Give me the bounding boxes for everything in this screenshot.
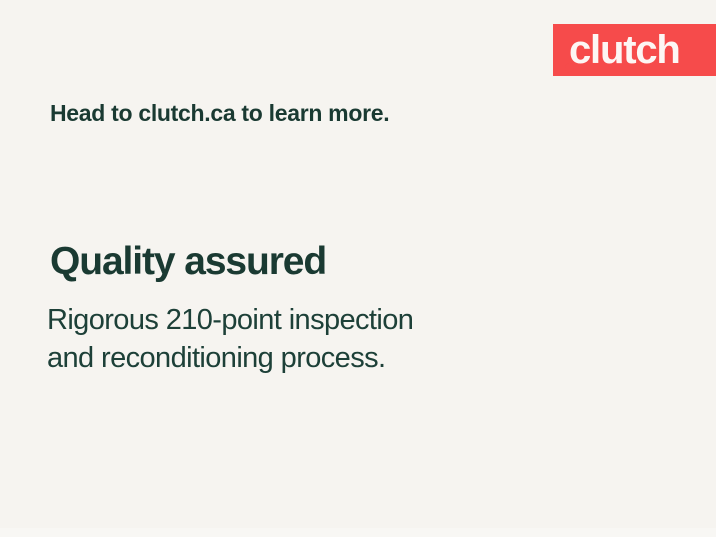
clutch-logo-badge[interactable]: clutch [553,24,716,76]
subcopy-line-1: Rigorous 210-point inspection [47,302,587,340]
subcopy-text: Rigorous 210-point inspection and recond… [47,302,587,378]
page-title: Quality assured [50,241,326,283]
subcopy-line-2: and reconditioning process. [47,340,587,378]
clutch-wordmark: clutch [569,30,680,70]
slide-canvas: clutch Head to clutch.ca to learn more. … [0,0,716,537]
kicker-text: Head to clutch.ca to learn more. [50,100,389,128]
